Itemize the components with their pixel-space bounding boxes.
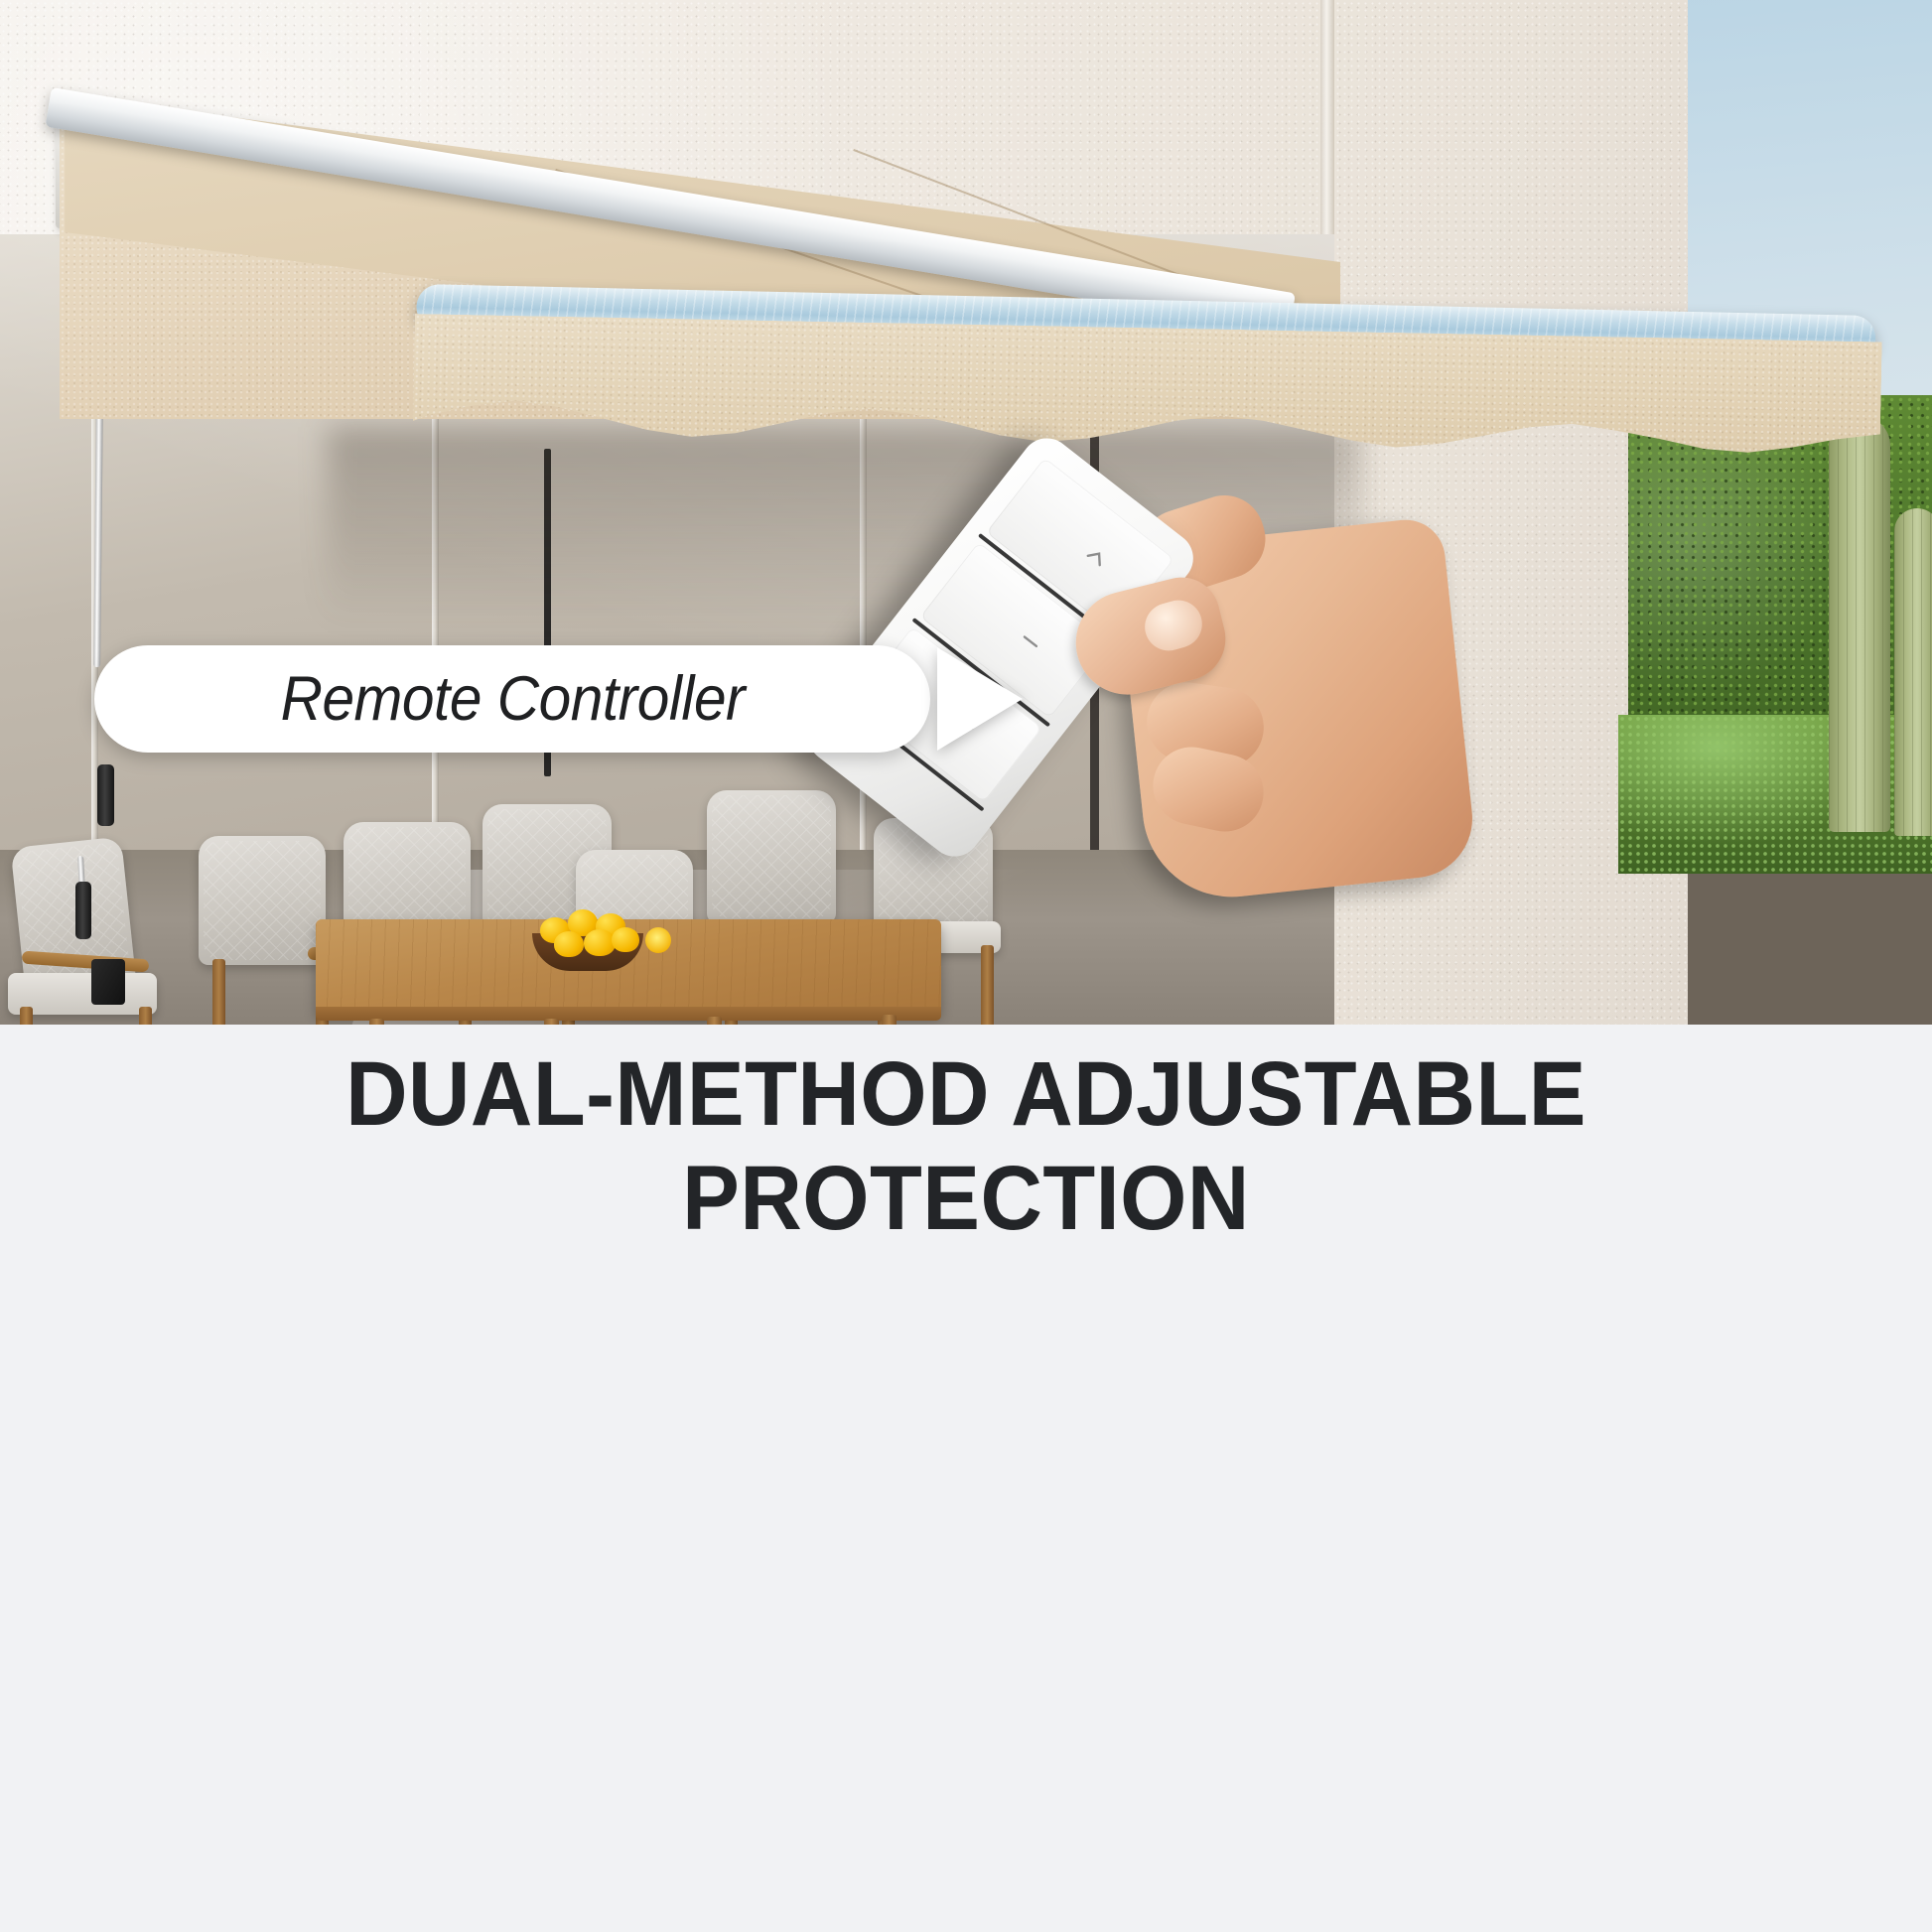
page-title: DUAL-METHOD ADJUSTABLE PROTECTION: [58, 1042, 1873, 1251]
cactus-plant: [1894, 508, 1932, 836]
cactus-plant: [1829, 415, 1890, 832]
power-plug-icon: [91, 959, 125, 1005]
lemon-fruit: [612, 927, 639, 952]
chair-leg: [20, 1007, 33, 1025]
hero-photo-scene: Remote Controller: [0, 0, 1932, 1025]
table-leg: [882, 1015, 897, 1025]
remote-controller-label: Remote Controller: [280, 663, 745, 735]
remote-controller-in-hand: [898, 437, 1415, 854]
patio-chair: [707, 790, 836, 923]
chair-leg: [139, 1007, 152, 1025]
remote-controller-callout: Remote Controller: [94, 645, 930, 753]
chair-leg: [981, 945, 994, 1025]
patio-chair: [199, 836, 326, 965]
dining-table-edge: [316, 1007, 941, 1021]
lemon-fruit: [554, 931, 584, 957]
table-leg: [707, 1017, 722, 1025]
cord-clip: [97, 764, 114, 826]
marketing-graphic: Remote Controller DUAL-METHOD ADJUSTABLE…: [0, 0, 1932, 1932]
crank-awning-diagram: Crank Handle: [0, 1221, 1932, 1932]
lemon-half: [645, 927, 671, 953]
cord-clip: [75, 882, 91, 939]
chair-leg: [212, 959, 225, 1025]
lemon-fruit: [584, 929, 616, 956]
triangle-right-icon: [937, 647, 1023, 751]
chevron-up-icon: [1078, 539, 1114, 575]
